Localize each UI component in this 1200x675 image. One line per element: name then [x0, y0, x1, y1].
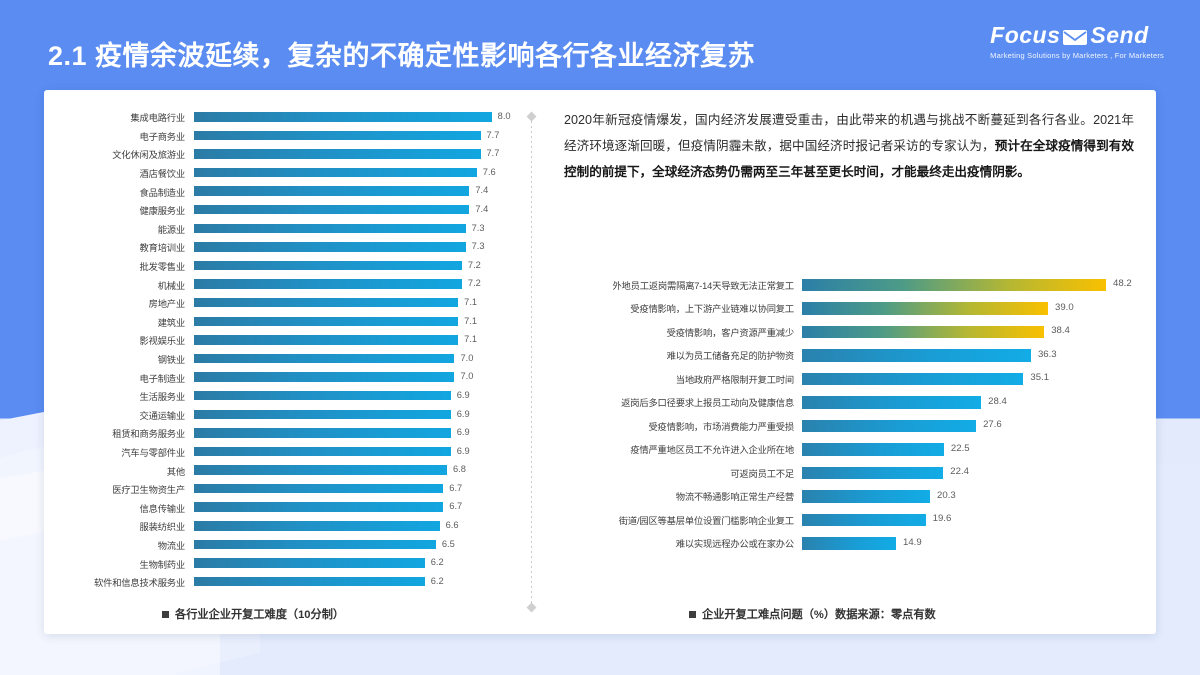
- bar-track: 7.1: [194, 313, 514, 332]
- bar: [802, 302, 1048, 315]
- chart-bar-row: 机械业7.2: [58, 275, 514, 294]
- bar: [194, 465, 447, 475]
- chart-bar-row: 文化休闲及旅游业7.7: [58, 145, 514, 164]
- bar-value-label: 7.4: [475, 185, 488, 195]
- bar: [802, 537, 896, 550]
- left-caption-text: 各行业企业开复工难度（10分制）: [175, 606, 344, 622]
- bar-category-label: 钢铁业: [58, 352, 194, 366]
- bar: [194, 354, 454, 364]
- bar-category-label: 房地产业: [58, 296, 194, 310]
- bar-value-label: 39.0: [1055, 302, 1074, 313]
- chart-bar-row: 电子制造业7.0: [58, 368, 514, 387]
- bar-value-label: 7.6: [483, 167, 496, 177]
- bar-category-label: 机械业: [58, 278, 194, 292]
- body-paragraph: 2020年新冠疫情爆发，国内经济发展遭受重击，由此带来的机遇与挑战不断蔓延到各行…: [564, 108, 1134, 185]
- bar-category-label: 服装纺织业: [58, 519, 194, 533]
- bar-category-label: 影视娱乐业: [58, 333, 194, 347]
- bar: [802, 467, 943, 480]
- chart-bar-row: 服装纺织业6.6: [58, 517, 514, 536]
- chart-bar-row: 外地员工返岗需隔离7-14天导致无法正常复工48.2: [550, 273, 1130, 297]
- bar-value-label: 22.5: [951, 443, 970, 454]
- bar-value-label: 7.2: [468, 260, 481, 270]
- chart-bar-row: 物流业6.5: [58, 536, 514, 555]
- bar-track: 7.0: [194, 350, 514, 369]
- brand-logo: Focus Send Marketing Solutions by Market…: [990, 24, 1164, 60]
- left-chart-panel: 集成电路行业8.0电子商务业7.7文化休闲及旅游业7.7酒店餐饮业7.6食品制造…: [44, 90, 528, 634]
- bar: [194, 410, 451, 420]
- bar-track: 7.4: [194, 201, 514, 220]
- bar-track: 39.0: [802, 297, 1130, 321]
- bar: [194, 242, 466, 252]
- chart-bar-row: 汽车与零部件业6.9: [58, 443, 514, 462]
- bar-value-label: 7.2: [468, 278, 481, 288]
- bar-category-label: 酒店餐饮业: [58, 166, 194, 180]
- bar-value-label: 6.9: [457, 409, 470, 419]
- bar: [194, 484, 443, 494]
- bar-track: 7.7: [194, 145, 514, 164]
- bar-value-label: 7.1: [464, 334, 477, 344]
- bar-value-label: 36.3: [1038, 349, 1057, 360]
- bar-value-label: 7.1: [464, 297, 477, 307]
- bar-track: 6.9: [194, 424, 514, 443]
- chart-bar-row: 房地产业7.1: [58, 294, 514, 313]
- bar-value-label: 6.8: [453, 464, 466, 474]
- content-card: 集成电路行业8.0电子商务业7.7文化休闲及旅游业7.7酒店餐饮业7.6食品制造…: [44, 90, 1156, 634]
- chart-bar-row: 食品制造业7.4: [58, 182, 514, 201]
- bar-value-label: 7.0: [460, 353, 473, 363]
- bar-value-label: 7.3: [472, 223, 485, 233]
- bar: [802, 514, 926, 527]
- bar: [194, 447, 451, 457]
- vertical-divider: [528, 112, 535, 612]
- bar-track: 7.3: [194, 220, 514, 239]
- envelope-icon: [1062, 27, 1088, 44]
- bar-track: 48.2: [802, 273, 1130, 297]
- chart-bar-row: 健康服务业7.4: [58, 201, 514, 220]
- logo-text-focus: Focus: [990, 24, 1060, 47]
- bar-track: 7.1: [194, 294, 514, 313]
- bar-category-label: 外地员工返岗需隔离7-14天导致无法正常复工: [550, 278, 802, 292]
- bar-track: 8.0: [194, 108, 514, 127]
- bar-category-label: 医疗卫生物资生产: [58, 482, 194, 496]
- chart-bar-row: 受疫情影响，市场消费能力严重受损27.6: [550, 414, 1130, 438]
- divider-diamond-top: [527, 112, 537, 122]
- bar-category-label: 难以为员工储备充足的防护物资: [550, 348, 802, 362]
- chart-bar-row: 生活服务业6.9: [58, 387, 514, 406]
- bullet-square-icon: [689, 611, 696, 618]
- bar: [194, 335, 458, 345]
- chart-bar-row: 教育培训业7.3: [58, 238, 514, 257]
- bar-track: 7.7: [194, 127, 514, 146]
- chart-bar-row: 难以为员工储备充足的防护物资36.3: [550, 344, 1130, 368]
- bar: [194, 391, 451, 401]
- right-panel: 2020年新冠疫情爆发，国内经济发展遭受重击，由此带来的机遇与挑战不断蔓延到各行…: [536, 90, 1156, 634]
- bar-category-label: 生物制药业: [58, 557, 194, 571]
- bar-category-label: 教育培训业: [58, 240, 194, 254]
- bar-value-label: 28.4: [988, 396, 1007, 407]
- bar: [194, 149, 481, 159]
- bar-track: 7.4: [194, 182, 514, 201]
- bar-track: 22.5: [802, 438, 1130, 462]
- logo-text-send: Send: [1090, 24, 1148, 47]
- bar-value-label: 6.7: [449, 483, 462, 493]
- chart-bar-row: 街道/园区等基层单位设置门槛影响企业复工19.6: [550, 508, 1130, 532]
- bar-value-label: 7.7: [487, 148, 500, 158]
- chart-bar-row: 信息传输业6.7: [58, 498, 514, 517]
- chart-bar-row: 能源业7.3: [58, 220, 514, 239]
- bar-track: 20.3: [802, 485, 1130, 509]
- bar-category-label: 受疫情影响，客户资源严重减少: [550, 325, 802, 339]
- bar-value-label: 6.2: [431, 557, 444, 567]
- bar: [194, 317, 458, 327]
- chart-bar-row: 酒店餐饮业7.6: [58, 164, 514, 183]
- bar-category-label: 疫情严重地区员工不允许进入企业所在地: [550, 442, 802, 456]
- bar-track: 14.9: [802, 532, 1130, 556]
- bar-value-label: 38.4: [1051, 325, 1070, 336]
- bar-track: 6.7: [194, 498, 514, 517]
- bar-value-label: 27.6: [983, 419, 1002, 430]
- bar: [194, 577, 425, 587]
- bar: [194, 298, 458, 308]
- chart-bar-row: 可返岗员工不足22.4: [550, 461, 1130, 485]
- divider-diamond-bottom: [527, 603, 537, 613]
- bar-category-label: 其他: [58, 464, 194, 478]
- bar: [194, 112, 492, 122]
- bar: [802, 373, 1023, 386]
- bar: [194, 558, 425, 568]
- chart-bar-row: 疫情严重地区员工不允许进入企业所在地22.5: [550, 438, 1130, 462]
- bar-category-label: 街道/园区等基层单位设置门槛影响企业复工: [550, 513, 802, 527]
- chart-bar-row: 租赁和商务服务业6.9: [58, 424, 514, 443]
- bar-value-label: 6.5: [442, 539, 455, 549]
- bar: [802, 326, 1044, 339]
- bar-category-label: 文化休闲及旅游业: [58, 147, 194, 161]
- bar-track: 22.4: [802, 461, 1130, 485]
- bar-value-label: 6.9: [457, 427, 470, 437]
- bar-track: 6.5: [194, 536, 514, 555]
- chart-bar-row: 交通运输业6.9: [58, 406, 514, 425]
- bar: [194, 279, 462, 289]
- bar: [194, 502, 443, 512]
- bar-category-label: 难以实现远程办公或在家办公: [550, 536, 802, 550]
- right-caption-text: 企业开复工难点问题（%）数据来源：零点有数: [702, 606, 936, 622]
- bar-value-label: 6.9: [457, 446, 470, 456]
- bullet-square-icon: [162, 611, 169, 618]
- bar: [802, 279, 1106, 292]
- bar-track: 27.6: [802, 414, 1130, 438]
- bar-track: 19.6: [802, 508, 1130, 532]
- bar: [194, 521, 440, 531]
- bar-value-label: 20.3: [937, 490, 956, 501]
- industry-difficulty-chart: 集成电路行业8.0电子商务业7.7文化休闲及旅游业7.7酒店餐饮业7.6食品制造…: [58, 108, 514, 591]
- bar-category-label: 返岗后多口径要求上报员工动向及健康信息: [550, 395, 802, 409]
- bar-category-label: 当地政府严格限制开复工时间: [550, 372, 802, 386]
- bar-category-label: 批发零售业: [58, 259, 194, 273]
- bar-category-label: 信息传输业: [58, 501, 194, 515]
- bar-track: 35.1: [802, 367, 1130, 391]
- chart-bar-row: 当地政府严格限制开复工时间35.1: [550, 367, 1130, 391]
- bar-track: 7.1: [194, 331, 514, 350]
- chart-bar-row: 批发零售业7.2: [58, 257, 514, 276]
- bar: [194, 168, 477, 178]
- bar-category-label: 集成电路行业: [58, 110, 194, 124]
- bar-value-label: 7.7: [487, 130, 500, 140]
- bar: [194, 131, 481, 141]
- bar-track: 6.7: [194, 480, 514, 499]
- chart-bar-row: 影视娱乐业7.1: [58, 331, 514, 350]
- bar-track: 7.2: [194, 257, 514, 276]
- bar-track: 7.0: [194, 368, 514, 387]
- bar-value-label: 48.2: [1113, 278, 1132, 289]
- reopening-difficulty-chart: 外地员工返岗需隔离7-14天导致无法正常复工48.2受疫情影响，上下游产业链难以…: [550, 273, 1130, 555]
- chart-bar-row: 建筑业7.1: [58, 313, 514, 332]
- chart-bar-row: 集成电路行业8.0: [58, 108, 514, 127]
- chart-bar-row: 返岗后多口径要求上报员工动向及健康信息28.4: [550, 391, 1130, 415]
- chart-bar-row: 难以实现远程办公或在家办公14.9: [550, 532, 1130, 556]
- bar: [194, 261, 462, 271]
- bar-category-label: 物流不畅通影响正常生产经营: [550, 489, 802, 503]
- chart-bar-row: 医疗卫生物资生产6.7: [58, 480, 514, 499]
- bar: [194, 224, 466, 234]
- bar: [802, 396, 981, 409]
- bar: [194, 372, 454, 382]
- bar-category-label: 受疫情影响，市场消费能力严重受损: [550, 419, 802, 433]
- bar-value-label: 6.6: [446, 520, 459, 530]
- slide-header: 2.1 疫情余波延续，复杂的不确定性影响各行各业经济复苏 Focus Send …: [0, 0, 1200, 88]
- bar-category-label: 生活服务业: [58, 389, 194, 403]
- bar-category-label: 健康服务业: [58, 203, 194, 217]
- bar-track: 6.9: [194, 406, 514, 425]
- bar-category-label: 可返岗员工不足: [550, 466, 802, 480]
- bar-value-label: 19.6: [933, 513, 952, 524]
- bar: [194, 186, 469, 196]
- bar-track: 6.9: [194, 443, 514, 462]
- bar-value-label: 35.1: [1030, 372, 1049, 383]
- bar: [802, 490, 930, 503]
- divider-dotted-line: [531, 121, 532, 603]
- page-title: 2.1 疫情余波延续，复杂的不确定性影响各行各业经济复苏: [48, 34, 755, 73]
- bar-track: 36.3: [802, 344, 1130, 368]
- chart-bar-row: 生物制药业6.2: [58, 554, 514, 573]
- bar-track: 7.2: [194, 275, 514, 294]
- bar-category-label: 建筑业: [58, 315, 194, 329]
- bar-value-label: 7.0: [460, 371, 473, 381]
- bar-track: 7.3: [194, 238, 514, 257]
- right-chart-caption: 企业开复工难点问题（%）数据来源：零点有数: [689, 606, 936, 622]
- bar: [194, 428, 451, 438]
- chart-bar-row: 电子商务业7.7: [58, 127, 514, 146]
- bar: [194, 205, 469, 215]
- bar: [194, 540, 436, 550]
- bar: [802, 420, 976, 433]
- bar: [802, 349, 1031, 362]
- chart-bar-row: 软件和信息技术服务业6.2: [58, 573, 514, 592]
- bar-value-label: 7.4: [475, 204, 488, 214]
- bar-value-label: 6.9: [457, 390, 470, 400]
- chart-bar-row: 受疫情影响，客户资源严重减少38.4: [550, 320, 1130, 344]
- bar-track: 38.4: [802, 320, 1130, 344]
- bar-category-label: 汽车与零部件业: [58, 445, 194, 459]
- bar-value-label: 7.3: [472, 241, 485, 251]
- bar-value-label: 22.4: [950, 466, 969, 477]
- bar-value-label: 6.2: [431, 576, 444, 586]
- bar-category-label: 食品制造业: [58, 185, 194, 199]
- bar-category-label: 物流业: [58, 538, 194, 552]
- bar: [802, 443, 944, 456]
- chart-bar-row: 钢铁业7.0: [58, 350, 514, 369]
- bar-track: 6.2: [194, 554, 514, 573]
- bar-value-label: 8.0: [498, 111, 511, 121]
- bar-category-label: 受疫情影响，上下游产业链难以协同复工: [550, 301, 802, 315]
- chart-bar-row: 其他6.8: [58, 461, 514, 480]
- chart-bar-row: 物流不畅通影响正常生产经营20.3: [550, 485, 1130, 509]
- bar-value-label: 6.7: [449, 501, 462, 511]
- bar-track: 28.4: [802, 391, 1130, 415]
- bar-category-label: 能源业: [58, 222, 194, 236]
- chart-bar-row: 受疫情影响，上下游产业链难以协同复工39.0: [550, 297, 1130, 321]
- bar-category-label: 软件和信息技术服务业: [58, 575, 194, 589]
- logo-tagline: Marketing Solutions by Marketers , For M…: [990, 51, 1164, 60]
- bar-track: 6.9: [194, 387, 514, 406]
- bar-track: 6.6: [194, 517, 514, 536]
- bar-category-label: 电子制造业: [58, 371, 194, 385]
- bar-category-label: 租赁和商务服务业: [58, 426, 194, 440]
- bar-value-label: 7.1: [464, 316, 477, 326]
- bar-category-label: 交通运输业: [58, 408, 194, 422]
- bar-track: 6.8: [194, 461, 514, 480]
- bar-track: 6.2: [194, 573, 514, 592]
- bar-category-label: 电子商务业: [58, 129, 194, 143]
- bar-track: 7.6: [194, 164, 514, 183]
- bar-value-label: 14.9: [903, 537, 922, 548]
- left-chart-caption: 各行业企业开复工难度（10分制）: [162, 606, 344, 622]
